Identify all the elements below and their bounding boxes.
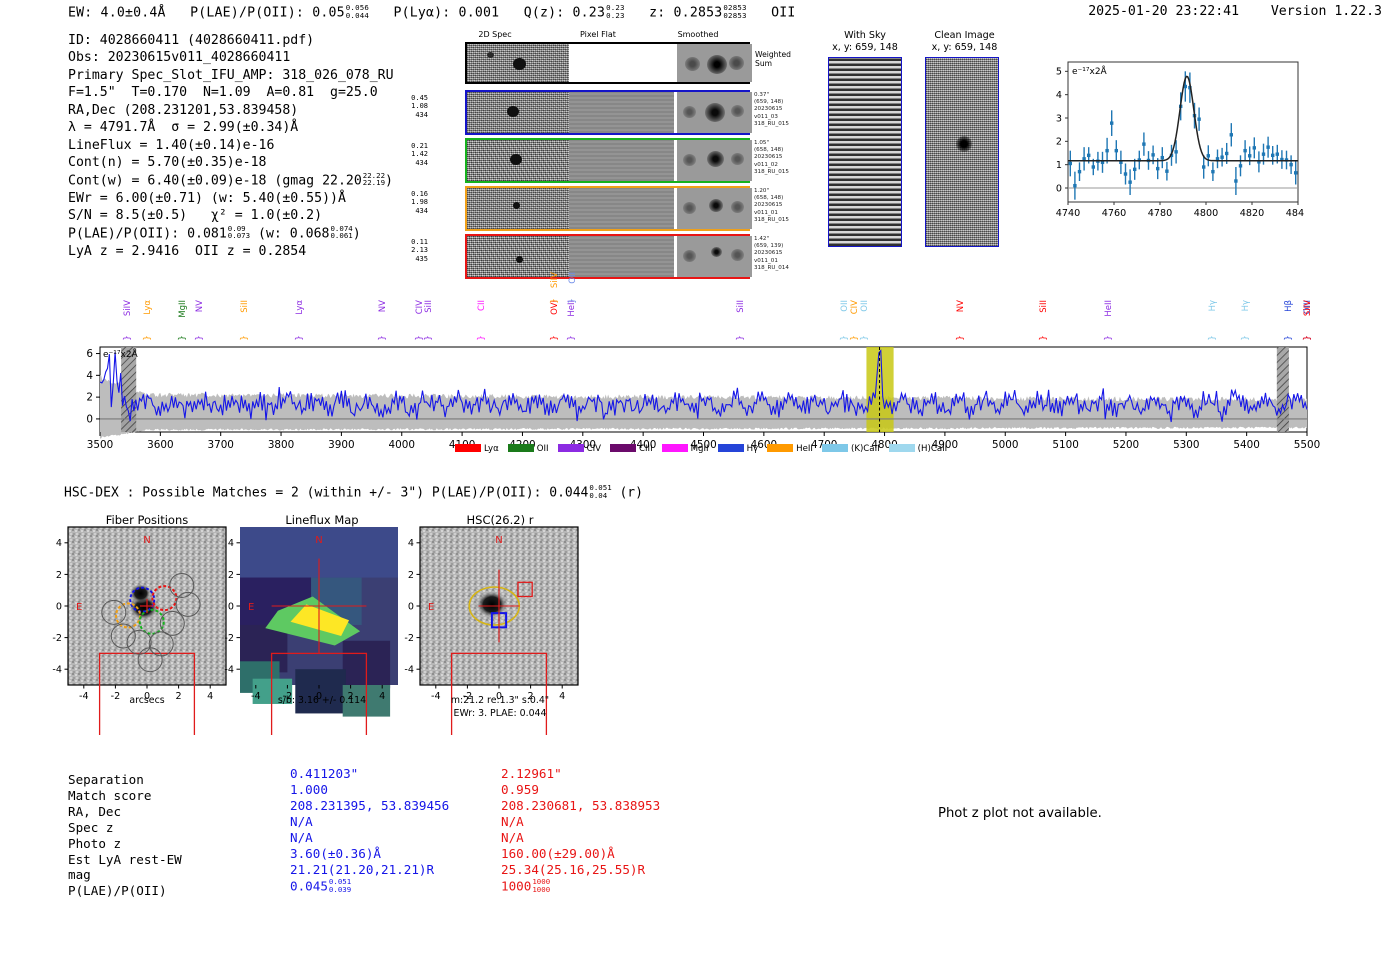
spec2d-row-right-info: 1.20"(658, 148)20230615v011_01318_RU_015 [754, 188, 789, 224]
emission-line-brace: { [548, 335, 558, 341]
emission-line-brace: { [1282, 335, 1292, 341]
clean-image-image[interactable] [925, 57, 999, 247]
svg-text:2: 2 [408, 570, 414, 581]
legend-label: Lyα [484, 444, 499, 454]
svg-text:4820: 4820 [1240, 208, 1264, 219]
emission-line-label: SiII [1039, 300, 1049, 313]
svg-text:2: 2 [86, 392, 93, 404]
legend-item: Lyα [455, 444, 499, 454]
match-table-label: P(LAE)/P(OII) [68, 883, 167, 899]
match-table-value-blue: 0.0450.0510.039 [290, 878, 351, 895]
info-ewr: EWr = 6.00(±0.71) (w: 5.40(±0.55))Å [68, 190, 394, 207]
match-table-value-blue: N/A [290, 814, 313, 830]
emission-line-label: Hγ [1208, 300, 1218, 311]
match-table-label: Separation [68, 772, 144, 788]
svg-text:E: E [76, 602, 82, 613]
photz-note: Phot z plot not available. [938, 806, 1102, 821]
spectrum-legend: LyαOIICIVCIIIMgIIHγHeII(K)CaII(H)CaII [455, 444, 956, 454]
info-plae-bounds: 0.090.073 [228, 225, 250, 241]
emission-line-label: NV [378, 300, 388, 312]
emission-line-label: Lyα [295, 300, 305, 315]
legend-label: (K)CaII [851, 444, 880, 454]
svg-text:4: 4 [56, 538, 62, 549]
legend-swatch [508, 444, 534, 452]
emission-line-label: Lyα [143, 300, 153, 315]
info-sn-chi2: S/N = 8.5(±0.5) χ² = 1.0(±0.2) [68, 207, 394, 224]
match-table-label: Est LyA rest-EW [68, 852, 182, 868]
source-info-block: ID: 4028660411 (4028660411.pdf) Obs: 202… [68, 32, 394, 260]
emission-line-brace: { [566, 298, 576, 304]
match-table-value-red: N/A [501, 814, 524, 830]
svg-text:e⁻¹⁷x2Å: e⁻¹⁷x2Å [1072, 65, 1108, 77]
legend-swatch [889, 444, 915, 452]
svg-text:N: N [315, 535, 322, 546]
spec2d-weighted-sum-row [465, 42, 750, 84]
emission-line-brace: { [422, 335, 432, 341]
hscdex-match-summary: HSC-DEX : Possible Matches = 2 (within +… [64, 484, 643, 501]
svg-text:4: 4 [86, 370, 93, 382]
legend-item: CIII [610, 444, 653, 454]
fiber-positions-xlabel: arcsecs [62, 695, 232, 706]
emission-line-brace: { [1037, 335, 1047, 341]
cutout-panels-group: Fiber Positions Lineflux Map HSC(26.2) r… [0, 505, 640, 735]
fiber-positions-title: Fiber Positions [57, 513, 237, 527]
header-plae: P(LAE)/P(OII): 0.05 [190, 6, 345, 21]
legend-label: (H)CaII [918, 444, 948, 454]
emission-line-label: SiII [736, 300, 746, 313]
emission-line-label: CII [477, 300, 487, 311]
svg-text:5300: 5300 [1173, 439, 1199, 451]
emission-line-brace: { [1239, 335, 1249, 341]
header-summary: EW: 4.0±0.4Å P(LAE)/P(OII): 0.050.0560.0… [68, 4, 795, 21]
svg-text:3500: 3500 [87, 439, 113, 451]
svg-text:2: 2 [56, 570, 62, 581]
svg-text:5000: 5000 [992, 439, 1018, 451]
info-plae-w-bounds: 0.0740.061 [330, 225, 352, 241]
legend-item: HeII [767, 444, 813, 454]
header-qz: Q(z): 0.23 [524, 6, 605, 21]
info-cont-w: Cont(w) = 6.40(±0.09)e-18 (gmag 22.2022.… [68, 172, 394, 190]
svg-text:5200: 5200 [1113, 439, 1139, 451]
info-params: F=1.5" T=0.170 N=1.09 A=0.81 g=25.0 [68, 84, 394, 101]
hscdex-suffix: (r) [619, 486, 642, 501]
match-table-value-red: 100010001000 [501, 878, 550, 895]
with-sky-image[interactable] [828, 57, 902, 247]
match-table-label: Spec z [68, 820, 114, 836]
emission-line-brace: { [1301, 335, 1311, 341]
svg-text:5: 5 [1056, 67, 1062, 78]
legend-label: CIII [639, 444, 653, 454]
lineflux-map-xlabel: s/b: 3.16 +/- 0.114 [232, 695, 412, 706]
emission-line-label: SiII [240, 300, 250, 313]
legend-swatch [455, 444, 481, 452]
spec2d-row-left-values: 0.161.98434 [398, 190, 428, 215]
svg-text:-4: -4 [404, 665, 414, 676]
svg-text:0: 0 [228, 601, 234, 612]
match-table-value-blue: 21.21(21.20,21.21)R [290, 862, 434, 878]
svg-text:4840: 4840 [1286, 208, 1304, 219]
svg-text:-4: -4 [224, 665, 234, 676]
emission-line-label: CIV [850, 300, 860, 314]
emission-line-brace: { [475, 335, 485, 341]
match-table-value-red: 25.34(25.16,25.55)R [501, 862, 645, 878]
svg-text:N: N [143, 535, 150, 546]
info-cont-n: Cont(n) = 5.70(±0.35)e-18 [68, 154, 394, 171]
emission-line-label: SiII [424, 300, 434, 313]
emission-line-brace: { [237, 335, 247, 341]
legend-label: CIV [587, 444, 601, 454]
match-table-value-blue: 3.60(±0.36)Å [290, 846, 381, 862]
legend-item: Hγ [718, 444, 759, 454]
legend-item: CIV [558, 444, 601, 454]
emission-line-brace: { [548, 298, 558, 304]
hscdex-prefix: HSC-DEX : Possible Matches = 2 (within +… [64, 486, 588, 501]
hsc-r-xlabel: m:21.2 re:1.3" s:0.4" [405, 695, 595, 706]
match-table-label: RA, Dec [68, 804, 121, 820]
legend-swatch [610, 444, 636, 452]
emission-line-label: OII [568, 272, 578, 284]
emission-line-brace: { [376, 335, 386, 341]
emission-line-label: SiIV [123, 300, 133, 316]
svg-text:-2: -2 [224, 633, 234, 644]
info-plae: P(LAE)/P(OII): 0.0810.090.073 (w: 0.0680… [68, 225, 394, 243]
emission-line-label: OII [840, 300, 850, 312]
legend-label: HeII [796, 444, 813, 454]
emission-line-brace: { [565, 335, 575, 341]
svg-text:3700: 3700 [207, 439, 233, 451]
svg-text:4800: 4800 [1194, 208, 1218, 219]
emission-line-brace: { [954, 335, 964, 341]
svg-text:4: 4 [228, 538, 234, 549]
svg-text:3: 3 [1056, 113, 1062, 124]
svg-text:4760: 4760 [1102, 208, 1126, 219]
svg-text:2: 2 [228, 570, 234, 581]
header-qz-bounds: 0.230.23 [606, 4, 625, 20]
hsc-r-title: HSC(26.2) r [410, 513, 590, 527]
match-table-label: mag [68, 867, 91, 883]
svg-text:5500: 5500 [1294, 439, 1320, 451]
info-redshifts: LyA z = 2.9416 OII z = 0.2854 [68, 243, 394, 260]
svg-text:4780: 4780 [1148, 208, 1172, 219]
emission-line-label: Hγ [1241, 300, 1251, 311]
svg-text:-2: -2 [52, 633, 62, 644]
svg-text:3800: 3800 [268, 439, 294, 451]
header-z: z: 0.2853 [649, 6, 722, 21]
hscdex-plae-bounds: 0.0510.04 [589, 484, 611, 500]
emission-line-brace: { [848, 335, 858, 341]
svg-text:3900: 3900 [328, 439, 354, 451]
info-lambda-sigma: λ = 4791.7Å σ = 2.99(±0.34)Å [68, 119, 394, 136]
match-table-value-red: 0.959 [501, 782, 539, 798]
full-spectrum-plot[interactable]: 3500360037003800390040004100420043004400… [0, 260, 1400, 470]
spec2d-exposure-row[interactable] [465, 186, 750, 231]
header-timestamp-version: 2025-01-20 23:22:41 Version 1.22.3 [1088, 4, 1382, 19]
spec2d-title-2dspec: 2D Spec [440, 30, 550, 39]
header-plae-bounds: 0.0560.044 [346, 4, 369, 20]
spec2d-row-right-info: 0.37"(659, 148)20230615v011_03318_RU_015 [754, 92, 789, 128]
spec2d-panel: 2D Spec Pixel Flat Smoothed WeightedSum … [430, 30, 760, 250]
info-obs: Obs: 20230615v011_4028660411 [68, 49, 394, 66]
emission-line-brace: { [121, 335, 131, 341]
header-version: Version 1.22.3 [1271, 4, 1382, 19]
match-table-value-red: 160.00(±29.00)Å [501, 846, 615, 862]
emission-line-brace: { [734, 335, 744, 341]
spec2d-weighted-sum-label: WeightedSum [755, 50, 791, 68]
legend-swatch [718, 444, 744, 452]
legend-swatch [822, 444, 848, 452]
spec2d-exposure-row[interactable] [465, 90, 750, 135]
match-table-label: Photo z [68, 836, 121, 852]
svg-text:-4: -4 [52, 665, 62, 676]
emission-line-brace: { [193, 335, 203, 341]
emission-line-brace: { [838, 335, 848, 341]
emission-line-brace: { [293, 335, 303, 341]
svg-text:N: N [495, 535, 502, 546]
emission-line-brace: { [141, 335, 151, 341]
legend-label: OII [537, 444, 549, 454]
header-z-bounds: 0285302853 [723, 4, 746, 20]
emission-line-label: HeII [1104, 300, 1114, 317]
legend-item: OII [508, 444, 549, 454]
spec2d-row-left-values: 0.451.08434 [398, 94, 428, 119]
emission-line-zoom-plot[interactable]: 474047604780480048204840012345e⁻¹⁷x2Å [1036, 52, 1304, 237]
match-table-value-blue: 208.231395, 53.839456 [290, 798, 449, 814]
svg-text:6: 6 [86, 348, 93, 360]
svg-text:0: 0 [56, 601, 62, 612]
match-table-value-red: 208.230681, 53.838953 [501, 798, 660, 814]
legend-label: MgII [691, 444, 709, 454]
info-gmag-bounds: 22.2222.19 [363, 172, 385, 188]
svg-text:4: 4 [408, 538, 414, 549]
emission-line-brace: { [1102, 335, 1112, 341]
spec2d-title-smoothed: Smoothed [648, 30, 748, 39]
svg-text:0: 0 [86, 414, 93, 426]
emission-line-label: OII [860, 300, 870, 312]
svg-text:-2: -2 [404, 633, 414, 644]
emission-line-label: Hβ [1284, 300, 1294, 312]
match-table-value-blue: 0.411203" [290, 766, 358, 782]
header-z-line: OII [771, 6, 795, 21]
svg-text:5400: 5400 [1233, 439, 1259, 451]
emission-line-brace: { [1206, 335, 1216, 341]
svg-text:0: 0 [1056, 183, 1062, 194]
svg-text:E: E [248, 602, 254, 613]
svg-text:E: E [428, 602, 434, 613]
lineflux-map-title: Lineflux Map [232, 513, 412, 527]
svg-text:4: 4 [1056, 90, 1062, 101]
svg-text:e⁻¹⁷x2Å: e⁻¹⁷x2Å [103, 348, 139, 360]
header-timestamp: 2025-01-20 23:22:41 [1088, 4, 1239, 19]
info-primary-spec: Primary Spec_Slot_IFU_AMP: 318_026_078_R… [68, 67, 394, 84]
spec2d-exposure-row[interactable] [465, 138, 750, 183]
legend-swatch [767, 444, 793, 452]
legend-item: MgII [662, 444, 709, 454]
svg-text:1: 1 [1056, 160, 1062, 171]
svg-text:2: 2 [1056, 137, 1062, 148]
svg-text:3600: 3600 [147, 439, 173, 451]
match-table-value-red: N/A [501, 830, 524, 846]
spec2d-row-left-values: 0.211.42434 [398, 142, 428, 167]
info-id: ID: 4028660411 (4028660411.pdf) [68, 32, 394, 49]
svg-text:0: 0 [408, 601, 414, 612]
match-table-value-blue: N/A [290, 830, 313, 846]
match-table-label: Match score [68, 788, 151, 804]
with-sky-title: With Skyx, y: 659, 148 [815, 30, 915, 53]
header-plya: P(Lyα): 0.001 [393, 6, 499, 21]
match-table-value-blue: 1.000 [290, 782, 328, 798]
hsc-r-xlabel2: EWr: 3. PLAE: 0.044 [405, 708, 595, 719]
emission-line-label: NV [956, 300, 966, 312]
legend-label: Hγ [747, 444, 759, 454]
emission-line-label: SiIV [550, 272, 560, 288]
legend-item: (H)CaII [889, 444, 948, 454]
emission-line-label: NV [195, 300, 205, 312]
match-table-value-red: 2.12961" [501, 766, 562, 782]
svg-text:5100: 5100 [1052, 439, 1078, 451]
emission-line-label: MgII [178, 300, 188, 318]
emission-line-brace: { [858, 335, 868, 341]
emission-line-label: SiIV [1303, 300, 1313, 316]
info-lineflux: LineFlux = 1.40(±0.14)e-16 [68, 137, 394, 154]
svg-text:4000: 4000 [389, 439, 415, 451]
spec2d-row-right-info: 1.05"(658, 148)20230615v011_02318_RU_015 [754, 140, 789, 176]
spec2d-title-pixelflat: Pixel Flat [548, 30, 648, 39]
legend-item: (K)CaII [822, 444, 880, 454]
header-ew: EW: 4.0±0.4Å [68, 6, 166, 21]
svg-text:4740: 4740 [1056, 208, 1080, 219]
emission-line-brace: { [176, 335, 186, 341]
legend-swatch [662, 444, 688, 452]
clean-image-title: Clean Imagex, y: 659, 148 [912, 30, 1017, 53]
legend-swatch [558, 444, 584, 452]
info-radec: RA,Dec (208.231201,53.839458) [68, 102, 394, 119]
